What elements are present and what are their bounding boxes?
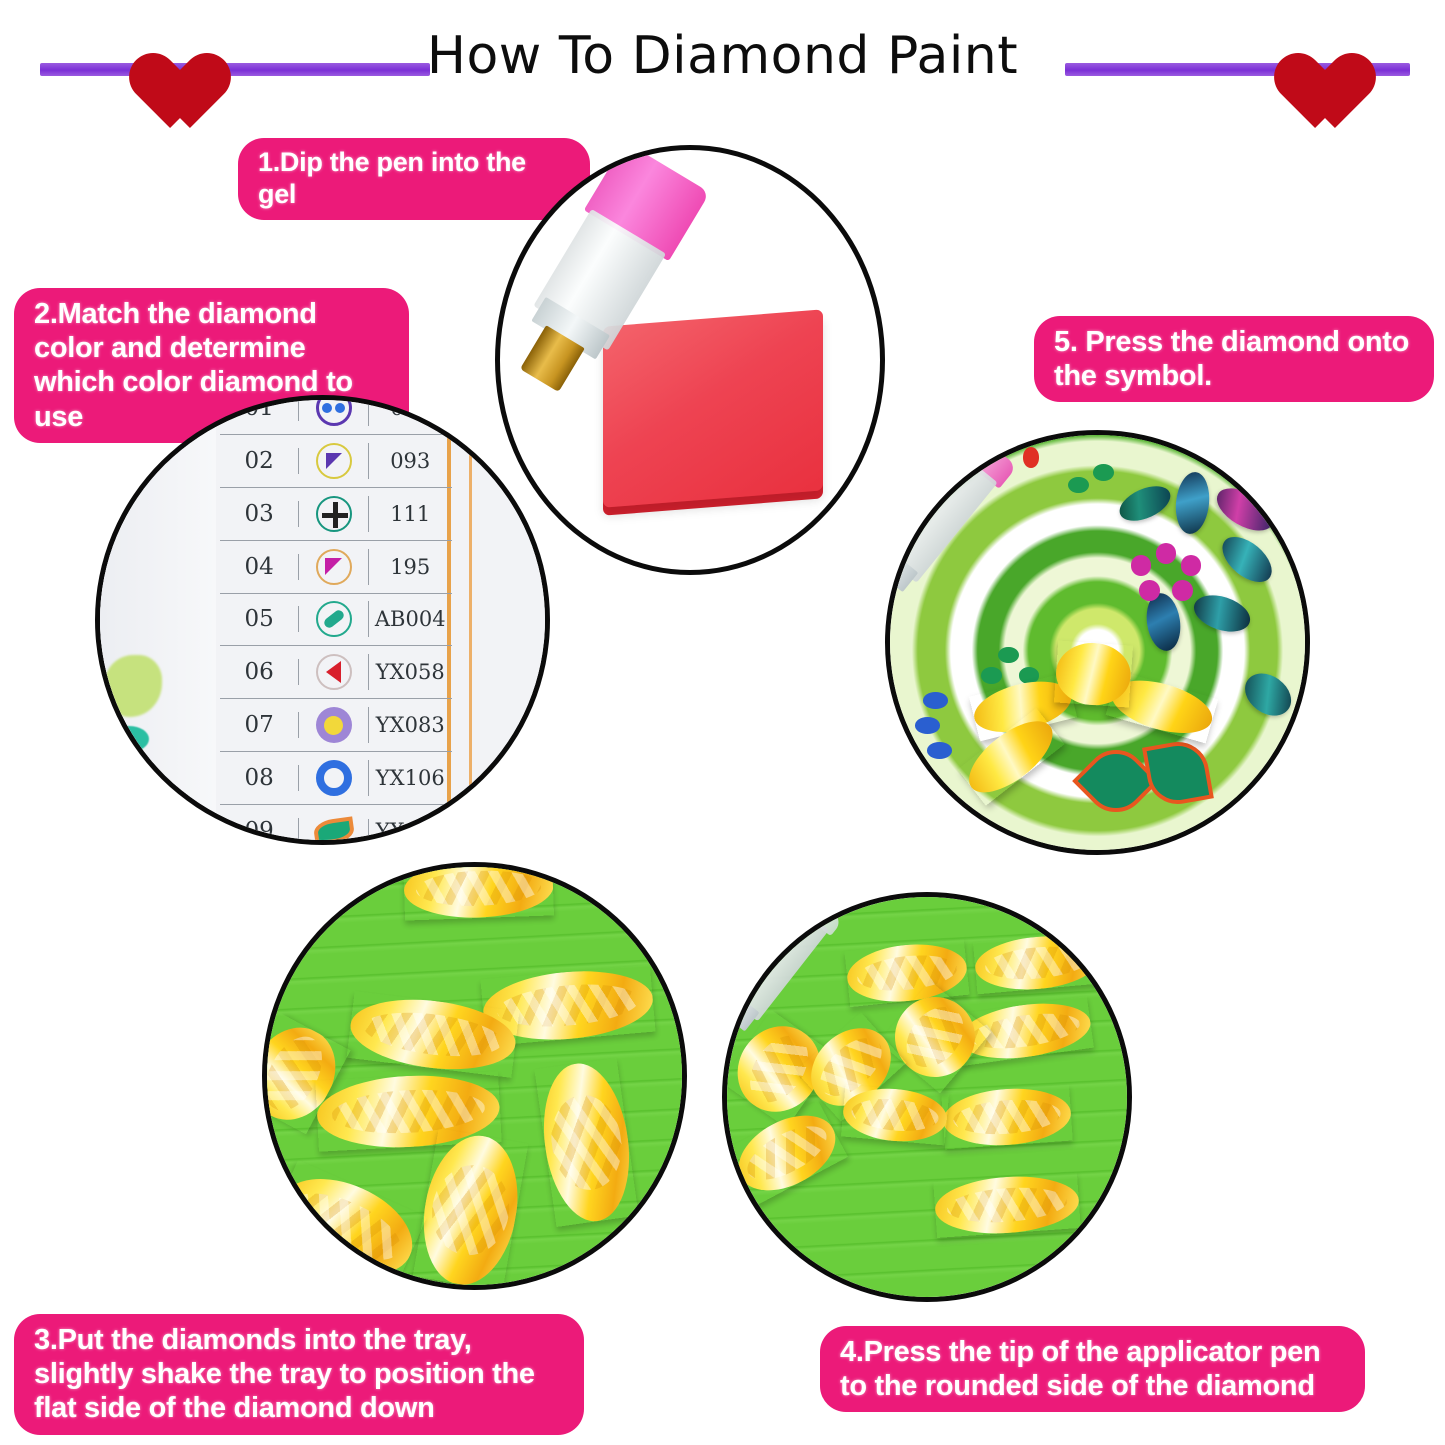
chart-number: 02 (220, 448, 299, 474)
chart-number: 04 (220, 554, 299, 580)
gem-magenta (1172, 580, 1193, 601)
chart-number: 09 (220, 818, 299, 844)
chart-code: YX058 (369, 660, 452, 684)
table-row: 09 YX125 (220, 805, 451, 845)
table-row: 01 028 (220, 395, 451, 435)
red-chevron-icon (316, 654, 352, 690)
chart-symbol-cell (299, 707, 369, 743)
chart-number: 05 (220, 606, 299, 632)
table-row: 08 YX106 (220, 752, 451, 805)
chart-code: YX125 (369, 819, 452, 843)
table-row: 07 YX083 (220, 699, 451, 752)
chart-code: YX083 (369, 713, 452, 737)
chart-number: 08 (220, 765, 299, 791)
chart-symbol-cell (299, 760, 369, 796)
green-leaf-icon (312, 816, 355, 845)
chart-symbol-cell (299, 549, 369, 585)
chart-code: 111 (369, 502, 452, 526)
gem-magenta (1181, 555, 1202, 576)
chart-code: YX106 (369, 766, 452, 790)
chart-symbol-cell (299, 654, 369, 690)
double-dot-circle-icon (316, 395, 352, 426)
diamond-gem (933, 1172, 1081, 1238)
chart-symbol-cell (299, 443, 369, 479)
gem-magenta (1139, 580, 1160, 601)
symbol-dot-green (1068, 477, 1089, 494)
table-row: 06 YX058 (220, 646, 451, 699)
diamond-gem (841, 1085, 949, 1146)
symbol-dot-green (1093, 464, 1114, 481)
step-4-label: 4.Press the tip of the applicator pen to… (820, 1326, 1365, 1412)
chart-symbol-cell (299, 496, 369, 532)
chart-code: 093 (369, 449, 452, 473)
triangle-quarter-icon (316, 443, 352, 479)
chart-number: 06 (220, 659, 299, 685)
photo-color-chart: 01 028 02 093 (95, 395, 550, 845)
teal-capsule-icon (316, 601, 352, 637)
symbol-dot-blue (923, 692, 948, 709)
chart-code: 028 (369, 396, 452, 420)
yellow-dot-ring-icon (316, 707, 352, 743)
gel-square (603, 309, 823, 507)
gem-yellow-active (1054, 640, 1133, 707)
chart-orange-rule-2 (469, 400, 472, 840)
symbol-dot-blue (915, 717, 940, 734)
table-row: 02 093 (220, 435, 451, 488)
chart-symbol-cell (299, 819, 369, 843)
symbol-dot-green (998, 647, 1019, 664)
chart-symbol-cell (299, 395, 369, 426)
photo-diamonds-in-tray (262, 862, 687, 1290)
symbol-dot-blue (927, 742, 952, 759)
step-5-label: 5. Press the diamond onto the symbol. (1034, 316, 1434, 402)
plus-cross-icon (316, 496, 352, 532)
chart-number: 01 (220, 395, 299, 421)
step-3-label: 3.Put the diamonds into the tray, slight… (14, 1314, 584, 1435)
canvas-teal-blob (109, 726, 149, 752)
photo-pen-in-gel (495, 145, 885, 575)
chart-symbol-cell (299, 601, 369, 637)
table-row: 04 195 (220, 541, 451, 594)
chart-code: AB004 (369, 607, 452, 631)
diamond-gem (973, 932, 1101, 995)
page-title: How To Diamond Paint (0, 26, 1445, 86)
blue-open-ring-icon (316, 760, 352, 796)
diamond-gem (403, 862, 554, 920)
chart-number: 03 (220, 501, 299, 527)
table-row: 05 AB004 (220, 594, 451, 647)
page-header: How To Diamond Paint (0, 0, 1445, 120)
diamond-gem (941, 1085, 1073, 1150)
photo-pen-picking-diamond (722, 892, 1132, 1302)
gem-magenta (1156, 543, 1177, 564)
chart-number: 07 (220, 712, 299, 738)
table-row: 03 111 (220, 488, 451, 541)
chart-margin (100, 400, 216, 840)
chart-code: 195 (369, 555, 452, 579)
color-chart-table: 01 028 02 093 (220, 395, 451, 845)
symbol-dot-green (981, 667, 1002, 684)
magenta-wedge-icon (316, 549, 352, 585)
photo-press-on-symbol (885, 430, 1310, 855)
